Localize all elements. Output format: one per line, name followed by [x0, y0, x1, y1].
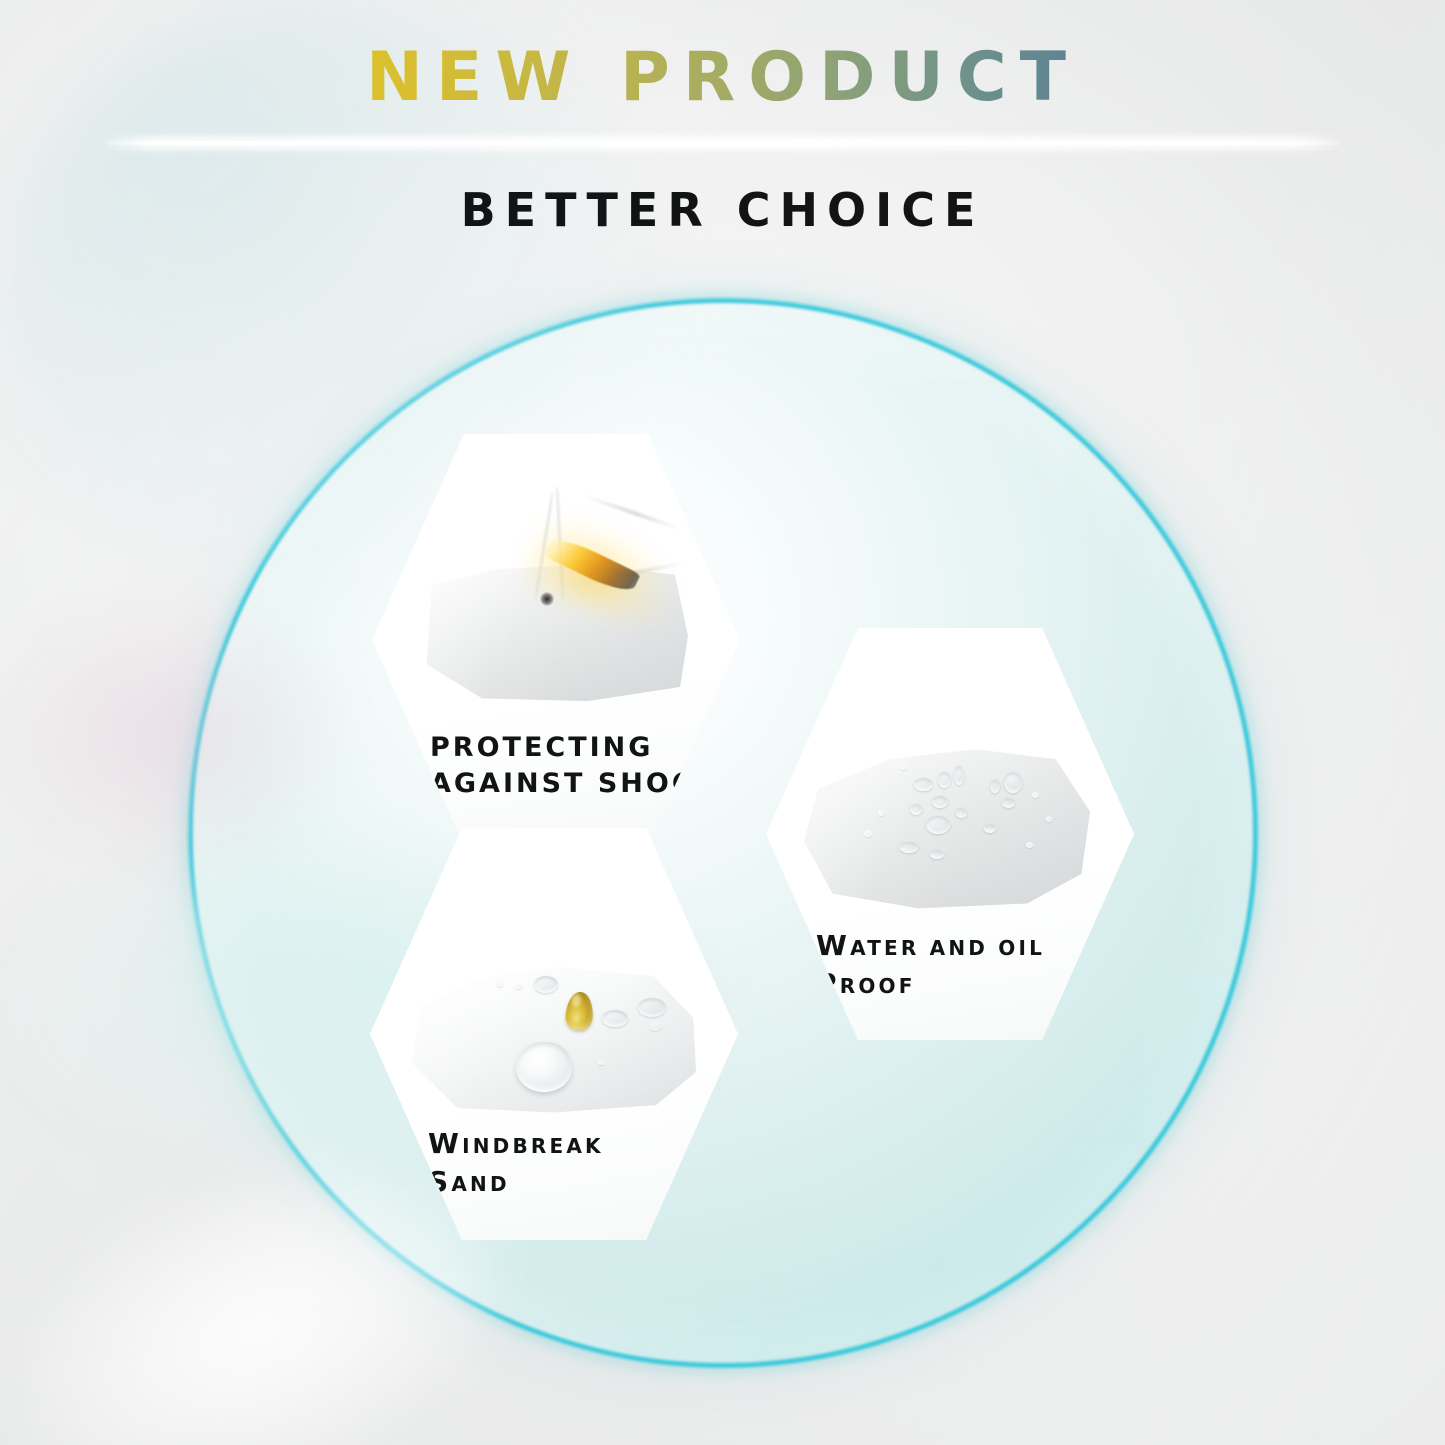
water-droplet — [514, 984, 523, 989]
water-droplet — [930, 850, 944, 859]
water-droplet — [914, 778, 933, 791]
water-droplet — [926, 816, 950, 834]
water-droplet — [990, 780, 1000, 793]
water-droplet — [938, 772, 951, 788]
water-droplet — [1046, 816, 1052, 822]
water-droplet — [954, 766, 964, 785]
water-droplet — [598, 1060, 604, 1065]
sunglass-lens-windbreak — [412, 964, 696, 1114]
sunglass-lens-water — [804, 746, 1090, 910]
shock-lens-illustration — [372, 470, 740, 680]
feature-card-water-and-oil-proof[interactable]: Water and Oil Proof — [766, 628, 1134, 1040]
water-droplet — [864, 830, 872, 837]
page-subtitle: BETTER CHOICE — [0, 182, 1445, 238]
windbreak-lens-illustration — [370, 876, 738, 1086]
water-droplet — [900, 764, 907, 770]
water-droplet — [1002, 798, 1015, 808]
water-droplet — [956, 808, 967, 818]
water-droplet — [910, 804, 922, 815]
water-droplet — [650, 1022, 661, 1031]
water-droplet — [534, 976, 558, 993]
impact-point — [540, 592, 554, 606]
water-droplet — [1032, 792, 1039, 798]
feature-card-windbreak-sand[interactable]: Windbreak sand — [370, 828, 738, 1240]
water-droplet — [496, 982, 503, 987]
header-divider — [100, 136, 1345, 150]
page-title: NEW PRODUCT — [0, 38, 1445, 118]
divider-line — [106, 141, 1339, 145]
water-droplet — [1004, 772, 1022, 793]
water-lens-illustration — [766, 668, 1134, 878]
feature-card-protecting-against-shock[interactable]: Protecting against shock — [372, 434, 740, 846]
water-droplet — [1026, 842, 1033, 848]
product-feature-poster: Protecting against shock — [0, 0, 1445, 1445]
oil-droplet — [565, 991, 595, 1031]
water-droplet — [678, 990, 685, 995]
water-droplet — [602, 1010, 628, 1027]
water-droplet — [984, 824, 996, 833]
water-droplet — [638, 998, 666, 1017]
water-droplet — [900, 842, 918, 853]
water-droplet — [878, 810, 884, 816]
water-droplet — [932, 796, 948, 808]
large-water-bead — [516, 1042, 572, 1092]
